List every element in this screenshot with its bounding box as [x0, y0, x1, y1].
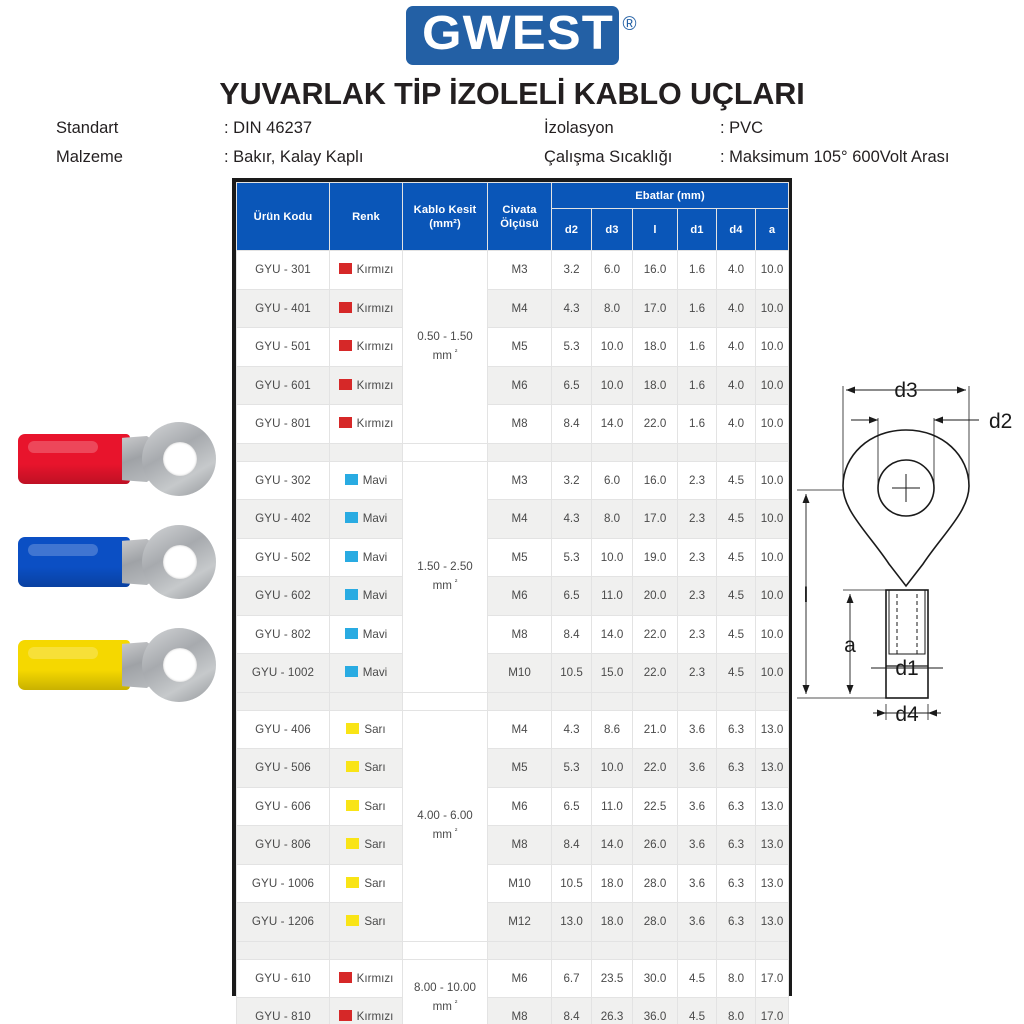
cell-l: 17.0	[633, 500, 678, 539]
cell-d2: 6.5	[552, 366, 592, 405]
technical-drawing: d3 d2 l a d1 d4	[793, 368, 1021, 728]
cell-d3: 18.0	[592, 864, 633, 903]
cell-a: 17.0	[756, 959, 789, 998]
cell-a: 10.0	[756, 366, 789, 405]
cell-renk: Mavi	[330, 538, 403, 577]
cell-l: 18.0	[633, 366, 678, 405]
cell-d4: 4.5	[717, 500, 756, 539]
cell-renk: Sarı	[330, 826, 403, 865]
sleeve-outline	[886, 590, 928, 698]
cell-d4: 4.5	[717, 615, 756, 654]
cell-renk: Kırmızı	[330, 251, 403, 290]
ring-tongue	[142, 628, 216, 702]
cell-l: 18.0	[633, 328, 678, 367]
renk-label: Kırmızı	[357, 1010, 394, 1023]
logo-box: GWEST	[406, 6, 619, 65]
cell-d4: 4.5	[717, 577, 756, 616]
ring-tongue	[142, 422, 216, 496]
color-swatch-sari	[346, 877, 359, 888]
table-row[interactable]: GYU - 610Kırmızı8.00 - 10.00mm²M66.723.5…	[237, 959, 789, 998]
specification-table-frame: Ürün Kodu Renk Kablo Kesit (mm²) Civata …	[232, 178, 792, 996]
ring-outline	[843, 430, 969, 586]
table-row[interactable]: GYU - 501KırmızıM55.310.018.01.64.010.0	[237, 328, 789, 367]
specification-table: Ürün Kodu Renk Kablo Kesit (mm²) Civata …	[236, 182, 789, 1024]
color-swatch-mavi	[345, 628, 358, 639]
cell-l: 22.0	[633, 615, 678, 654]
cell-d4: 6.3	[717, 787, 756, 826]
cell-l: 21.0	[633, 710, 678, 749]
cell-d3: 23.5	[592, 959, 633, 998]
cell-d4: 8.0	[717, 959, 756, 998]
renk-label: Sarı	[364, 800, 385, 813]
renk-label: Sarı	[364, 915, 385, 928]
cell-civata: M5	[488, 749, 552, 788]
spec-value-izolasyon: : PVC	[720, 119, 1016, 138]
cell-kablo-kesit: 8.00 - 10.00mm²	[403, 959, 488, 1024]
barrel-outline	[889, 590, 925, 654]
cell-d4: 8.0	[717, 998, 756, 1024]
cell-a: 13.0	[756, 787, 789, 826]
cell-d4: 4.0	[717, 289, 756, 328]
cell-d2: 8.4	[552, 998, 592, 1024]
cell-urun-kodu: GYU - 402	[237, 500, 330, 539]
cell-renk: Kırmızı	[330, 328, 403, 367]
cell-d3: 10.0	[592, 538, 633, 577]
kesit-unit: mm	[433, 349, 452, 362]
cell-l: 30.0	[633, 959, 678, 998]
cell-civata: M3	[488, 251, 552, 290]
renk-label: Mavi	[363, 512, 387, 525]
cell-a: 10.0	[756, 251, 789, 290]
renk-label: Mavi	[363, 589, 387, 602]
cell-renk: Kırmızı	[330, 405, 403, 444]
dim-label-d3: d3	[894, 379, 917, 402]
cell-urun-kodu: GYU - 401	[237, 289, 330, 328]
cell-kablo-kesit: 4.00 - 6.00mm²	[403, 710, 488, 941]
table-row[interactable]: GYU - 302Mavi1.50 - 2.50mm²M33.26.016.02…	[237, 461, 789, 500]
cell-d4: 4.5	[717, 461, 756, 500]
table-row[interactable]: GYU - 402MaviM44.38.017.02.34.510.0	[237, 500, 789, 539]
cell-urun-kodu: GYU - 610	[237, 959, 330, 998]
cell-d1: 1.6	[678, 328, 717, 367]
cell-urun-kodu: GYU - 501	[237, 328, 330, 367]
spec-label-standart: Standart	[56, 119, 224, 138]
col-civata-olcusu: Civata Ölçüsü	[488, 183, 552, 251]
kesit-superscript: ²	[455, 347, 458, 356]
cell-civata: M10	[488, 864, 552, 903]
col-civata-line2: Ölçüsü	[500, 218, 539, 230]
cell-civata: M8	[488, 405, 552, 444]
cell-urun-kodu: GYU - 502	[237, 538, 330, 577]
cell-d1: 4.5	[678, 998, 717, 1024]
dim-label-a: a	[844, 634, 856, 657]
cell-a: 13.0	[756, 864, 789, 903]
cell-a: 13.0	[756, 749, 789, 788]
product-photo-yellow	[10, 626, 220, 704]
cell-d4: 6.3	[717, 710, 756, 749]
ring-tongue	[142, 525, 216, 599]
insulation-sleeve	[18, 640, 130, 690]
table-row[interactable]: GYU - 1002MaviM1010.515.022.02.34.510.0	[237, 654, 789, 693]
kesit-unit: mm	[433, 579, 452, 592]
cell-d3: 14.0	[592, 405, 633, 444]
dim-label-d2: d2	[989, 410, 1012, 433]
cell-a: 17.0	[756, 998, 789, 1024]
cell-d4: 6.3	[717, 749, 756, 788]
cell-l: 16.0	[633, 461, 678, 500]
renk-label: Kırmızı	[357, 340, 394, 353]
cell-urun-kodu: GYU - 602	[237, 577, 330, 616]
cell-civata: M8	[488, 998, 552, 1024]
col-kablo-kesit-line1: Kablo Kesit	[414, 204, 477, 216]
cell-d4: 4.5	[717, 538, 756, 577]
brand-logo: GWEST ®	[0, 6, 1024, 65]
color-swatch-kirmizi	[339, 302, 352, 313]
cell-a: 10.0	[756, 289, 789, 328]
spec-label-izolasyon: İzolasyon	[544, 119, 720, 138]
renk-label: Sarı	[364, 761, 385, 774]
spec-value-calisma-sicakligi: : Maksimum 105° 600Volt Arası	[720, 148, 1016, 167]
table-row[interactable]: GYU - 801KırmızıM88.414.022.01.64.010.0	[237, 405, 789, 444]
kesit-superscript: ²	[455, 998, 458, 1007]
renk-label: Sarı	[364, 723, 385, 736]
table-row[interactable]: GYU - 401KırmızıM44.38.017.01.64.010.0	[237, 289, 789, 328]
col-d1: d1	[678, 209, 717, 251]
cell-d3: 15.0	[592, 654, 633, 693]
cell-d1: 2.3	[678, 538, 717, 577]
cell-urun-kodu: GYU - 806	[237, 826, 330, 865]
cell-d4: 4.0	[717, 328, 756, 367]
col-l: l	[633, 209, 678, 251]
table-row[interactable]: GYU - 406Sarı4.00 - 6.00mm²M44.38.621.03…	[237, 710, 789, 749]
cell-renk: Mavi	[330, 500, 403, 539]
spec-row: Standart : DIN 46237 İzolasyon : PVC	[56, 119, 1016, 148]
logo-text: GWEST	[422, 9, 614, 59]
renk-label: Sarı	[364, 877, 385, 890]
cell-urun-kodu: GYU - 1002	[237, 654, 330, 693]
cell-civata: M3	[488, 461, 552, 500]
cell-urun-kodu: GYU - 1206	[237, 903, 330, 942]
kesit-range: 8.00 - 10.00	[414, 981, 476, 994]
color-swatch-kirmizi	[339, 1010, 352, 1021]
cell-d1: 3.6	[678, 864, 717, 903]
cell-renk: Mavi	[330, 461, 403, 500]
cell-urun-kodu: GYU - 406	[237, 710, 330, 749]
cell-d2: 5.3	[552, 328, 592, 367]
cell-d1: 2.3	[678, 615, 717, 654]
dim-label-d4: d4	[895, 703, 919, 726]
col-kablo-kesit: Kablo Kesit (mm²)	[403, 183, 488, 251]
cell-d3: 18.0	[592, 903, 633, 942]
cell-a: 10.0	[756, 538, 789, 577]
cell-l: 26.0	[633, 826, 678, 865]
cell-kablo-kesit: 1.50 - 2.50mm²	[403, 461, 488, 692]
table-row[interactable]: GYU - 606SarıM66.511.022.53.66.313.0	[237, 787, 789, 826]
cell-d2: 8.4	[552, 826, 592, 865]
renk-label: Mavi	[363, 474, 387, 487]
cell-urun-kodu: GYU - 1006	[237, 864, 330, 903]
color-swatch-kirmizi	[339, 340, 352, 351]
kesit-superscript: ²	[455, 577, 458, 586]
cell-d4: 6.3	[717, 864, 756, 903]
cell-urun-kodu: GYU - 506	[237, 749, 330, 788]
table-row[interactable]: GYU - 506SarıM55.310.022.03.66.313.0	[237, 749, 789, 788]
cell-d2: 6.7	[552, 959, 592, 998]
product-photos	[10, 420, 225, 710]
renk-label: Kırmızı	[357, 379, 394, 392]
cell-a: 10.0	[756, 500, 789, 539]
color-swatch-sari	[346, 838, 359, 849]
cell-l: 28.0	[633, 903, 678, 942]
col-civata-line1: Civata	[502, 204, 536, 216]
cell-d4: 4.0	[717, 366, 756, 405]
cell-a: 13.0	[756, 826, 789, 865]
cell-d2: 10.5	[552, 864, 592, 903]
cell-d2: 8.4	[552, 405, 592, 444]
cell-l: 28.0	[633, 864, 678, 903]
cell-renk: Mavi	[330, 615, 403, 654]
cell-d2: 3.2	[552, 461, 592, 500]
kesit-unit: mm	[433, 828, 452, 841]
insulation-sleeve	[18, 434, 130, 484]
cell-d1: 2.3	[678, 577, 717, 616]
cell-d1: 1.6	[678, 289, 717, 328]
cell-civata: M6	[488, 787, 552, 826]
cell-d1: 3.6	[678, 903, 717, 942]
cell-l: 22.0	[633, 405, 678, 444]
kesit-range: 4.00 - 6.00	[417, 809, 472, 822]
color-swatch-mavi	[345, 551, 358, 562]
cell-a: 10.0	[756, 328, 789, 367]
cell-civata: M8	[488, 826, 552, 865]
spec-label-calisma-sicakligi: Çalışma Sıcaklığı	[544, 148, 720, 167]
cell-d3: 14.0	[592, 826, 633, 865]
cell-d2: 3.2	[552, 251, 592, 290]
dim-label-l: l	[804, 584, 809, 607]
cell-d4: 6.3	[717, 903, 756, 942]
cell-d3: 14.0	[592, 615, 633, 654]
cell-renk: Sarı	[330, 749, 403, 788]
cell-d2: 13.0	[552, 903, 592, 942]
table-group-separator	[237, 941, 789, 959]
cell-l: 22.0	[633, 749, 678, 788]
color-swatch-sari	[346, 723, 359, 734]
cell-a: 10.0	[756, 461, 789, 500]
cell-d3: 11.0	[592, 577, 633, 616]
cell-civata: M12	[488, 903, 552, 942]
color-swatch-sari	[346, 915, 359, 926]
cell-d3: 10.0	[592, 749, 633, 788]
cell-d1: 4.5	[678, 959, 717, 998]
cell-d1: 1.6	[678, 366, 717, 405]
col-d4: d4	[717, 209, 756, 251]
cell-d4: 6.3	[717, 826, 756, 865]
color-swatch-kirmizi	[339, 379, 352, 390]
col-ebatlar-group: Ebatlar (mm)	[552, 183, 789, 209]
cell-civata: M6	[488, 366, 552, 405]
cell-urun-kodu: GYU - 302	[237, 461, 330, 500]
color-swatch-mavi	[345, 589, 358, 600]
cell-l: 20.0	[633, 577, 678, 616]
renk-label: Mavi	[363, 666, 387, 679]
cell-civata: M8	[488, 615, 552, 654]
table-row[interactable]: GYU - 802MaviM88.414.022.02.34.510.0	[237, 615, 789, 654]
cell-civata: M6	[488, 959, 552, 998]
cell-d1: 3.6	[678, 826, 717, 865]
cell-urun-kodu: GYU - 802	[237, 615, 330, 654]
cell-renk: Mavi	[330, 654, 403, 693]
color-swatch-mavi	[345, 512, 358, 523]
cell-a: 13.0	[756, 903, 789, 942]
cell-d2: 6.5	[552, 787, 592, 826]
kesit-range: 1.50 - 2.50	[417, 560, 472, 573]
spec-value-standart: : DIN 46237	[224, 119, 544, 138]
spec-row: Malzeme : Bakır, Kalay Kaplı Çalışma Sıc…	[56, 148, 1016, 177]
cell-l: 22.0	[633, 654, 678, 693]
insulation-sleeve	[18, 537, 130, 587]
cell-renk: Sarı	[330, 864, 403, 903]
table-row[interactable]: GYU - 502MaviM55.310.019.02.34.510.0	[237, 538, 789, 577]
kesit-range: 0.50 - 1.50	[417, 330, 472, 343]
registered-trademark-icon: ®	[623, 14, 637, 36]
col-a: a	[756, 209, 789, 251]
cell-renk: Sarı	[330, 710, 403, 749]
cell-d3: 10.0	[592, 366, 633, 405]
cell-urun-kodu: GYU - 606	[237, 787, 330, 826]
col-d2: d2	[552, 209, 592, 251]
color-swatch-sari	[346, 800, 359, 811]
cell-urun-kodu: GYU - 601	[237, 366, 330, 405]
cell-urun-kodu: GYU - 801	[237, 405, 330, 444]
color-swatch-sari	[346, 761, 359, 772]
cell-l: 16.0	[633, 251, 678, 290]
cell-a: 10.0	[756, 654, 789, 693]
table-row[interactable]: GYU - 1006SarıM1010.518.028.03.66.313.0	[237, 864, 789, 903]
table-row[interactable]: GYU - 601KırmızıM66.510.018.01.64.010.0	[237, 366, 789, 405]
cell-d2: 10.5	[552, 654, 592, 693]
cell-urun-kodu: GYU - 301	[237, 251, 330, 290]
cell-d2: 4.3	[552, 500, 592, 539]
cell-urun-kodu: GYU - 810	[237, 998, 330, 1024]
cell-d3: 10.0	[592, 328, 633, 367]
spec-summary: Standart : DIN 46237 İzolasyon : PVC Mal…	[56, 119, 1016, 177]
cell-renk: Kırmızı	[330, 959, 403, 998]
cell-a: 13.0	[756, 710, 789, 749]
cell-d1: 2.3	[678, 654, 717, 693]
renk-label: Kırmızı	[357, 972, 394, 985]
cell-d4: 4.0	[717, 405, 756, 444]
cell-d1: 3.6	[678, 749, 717, 788]
kesit-unit: mm	[433, 1000, 452, 1013]
dim-label-d1: d1	[895, 657, 918, 680]
table-group-separator	[237, 692, 789, 710]
cell-renk: Kırmızı	[330, 289, 403, 328]
cell-d1: 1.6	[678, 251, 717, 290]
cell-l: 22.5	[633, 787, 678, 826]
cell-civata: M4	[488, 500, 552, 539]
cell-d2: 4.3	[552, 710, 592, 749]
renk-label: Kırmızı	[357, 302, 394, 315]
color-swatch-kirmizi	[339, 263, 352, 274]
color-swatch-kirmizi	[339, 417, 352, 428]
renk-label: Mavi	[363, 628, 387, 641]
table-header: Ürün Kodu Renk Kablo Kesit (mm²) Civata …	[237, 183, 789, 251]
renk-label: Kırmızı	[357, 417, 394, 430]
col-d3: d3	[592, 209, 633, 251]
table-row[interactable]: GYU - 301Kırmızı0.50 - 1.50mm²M33.26.016…	[237, 251, 789, 290]
cell-a: 10.0	[756, 615, 789, 654]
col-urun-kodu: Ürün Kodu	[237, 183, 330, 251]
table-body: GYU - 301Kırmızı0.50 - 1.50mm²M33.26.016…	[237, 251, 789, 1024]
table-row[interactable]: GYU - 602MaviM66.511.020.02.34.510.0	[237, 577, 789, 616]
cell-renk: Kırmızı	[330, 366, 403, 405]
col-kablo-kesit-line2: (mm²)	[429, 218, 461, 230]
cell-l: 36.0	[633, 998, 678, 1024]
cell-d3: 8.0	[592, 289, 633, 328]
cell-d1: 1.6	[678, 405, 717, 444]
cell-d3: 8.0	[592, 500, 633, 539]
product-photo-blue	[10, 523, 220, 601]
renk-label: Kırmızı	[357, 263, 394, 276]
cell-civata: M6	[488, 577, 552, 616]
cell-d1: 3.6	[678, 787, 717, 826]
cell-d3: 6.0	[592, 251, 633, 290]
renk-label: Sarı	[364, 838, 385, 851]
cell-civata: M4	[488, 710, 552, 749]
spec-value-malzeme: : Bakır, Kalay Kaplı	[224, 148, 544, 167]
cell-renk: Mavi	[330, 577, 403, 616]
cell-l: 19.0	[633, 538, 678, 577]
cell-d3: 26.3	[592, 998, 633, 1024]
cell-d2: 5.3	[552, 538, 592, 577]
cell-d1: 3.6	[678, 710, 717, 749]
cell-civata: M5	[488, 328, 552, 367]
cell-d1: 2.3	[678, 500, 717, 539]
cell-d1: 2.3	[678, 461, 717, 500]
table-group-separator	[237, 443, 789, 461]
cell-civata: M4	[488, 289, 552, 328]
cell-l: 17.0	[633, 289, 678, 328]
cell-civata: M5	[488, 538, 552, 577]
table-row[interactable]: GYU - 810KırmızıM88.426.336.04.58.017.0	[237, 998, 789, 1024]
cell-a: 10.0	[756, 405, 789, 444]
table-row[interactable]: GYU - 1206SarıM1213.018.028.03.66.313.0	[237, 903, 789, 942]
product-photo-red	[10, 420, 220, 498]
cell-d2: 4.3	[552, 289, 592, 328]
datasheet-page: GWEST ® YUVARLAK TİP İZOLELİ KABLO UÇLAR…	[0, 0, 1024, 1024]
cell-d3: 11.0	[592, 787, 633, 826]
cell-a: 10.0	[756, 577, 789, 616]
cell-civata: M10	[488, 654, 552, 693]
cell-renk: Kırmızı	[330, 998, 403, 1024]
color-swatch-mavi	[345, 666, 358, 677]
page-title: YUVARLAK TİP İZOLELİ KABLO UÇLARI	[0, 77, 1024, 112]
cell-d2: 6.5	[552, 577, 592, 616]
cell-d3: 8.6	[592, 710, 633, 749]
renk-label: Mavi	[363, 551, 387, 564]
cell-d4: 4.0	[717, 251, 756, 290]
cell-renk: Sarı	[330, 787, 403, 826]
cell-renk: Sarı	[330, 903, 403, 942]
col-renk: Renk	[330, 183, 403, 251]
spec-label-malzeme: Malzeme	[56, 148, 224, 167]
cell-d2: 5.3	[552, 749, 592, 788]
table-row[interactable]: GYU - 806SarıM88.414.026.03.66.313.0	[237, 826, 789, 865]
cell-d2: 8.4	[552, 615, 592, 654]
cell-d4: 4.5	[717, 654, 756, 693]
cell-kablo-kesit: 0.50 - 1.50mm²	[403, 251, 488, 444]
kesit-superscript: ²	[455, 826, 458, 835]
